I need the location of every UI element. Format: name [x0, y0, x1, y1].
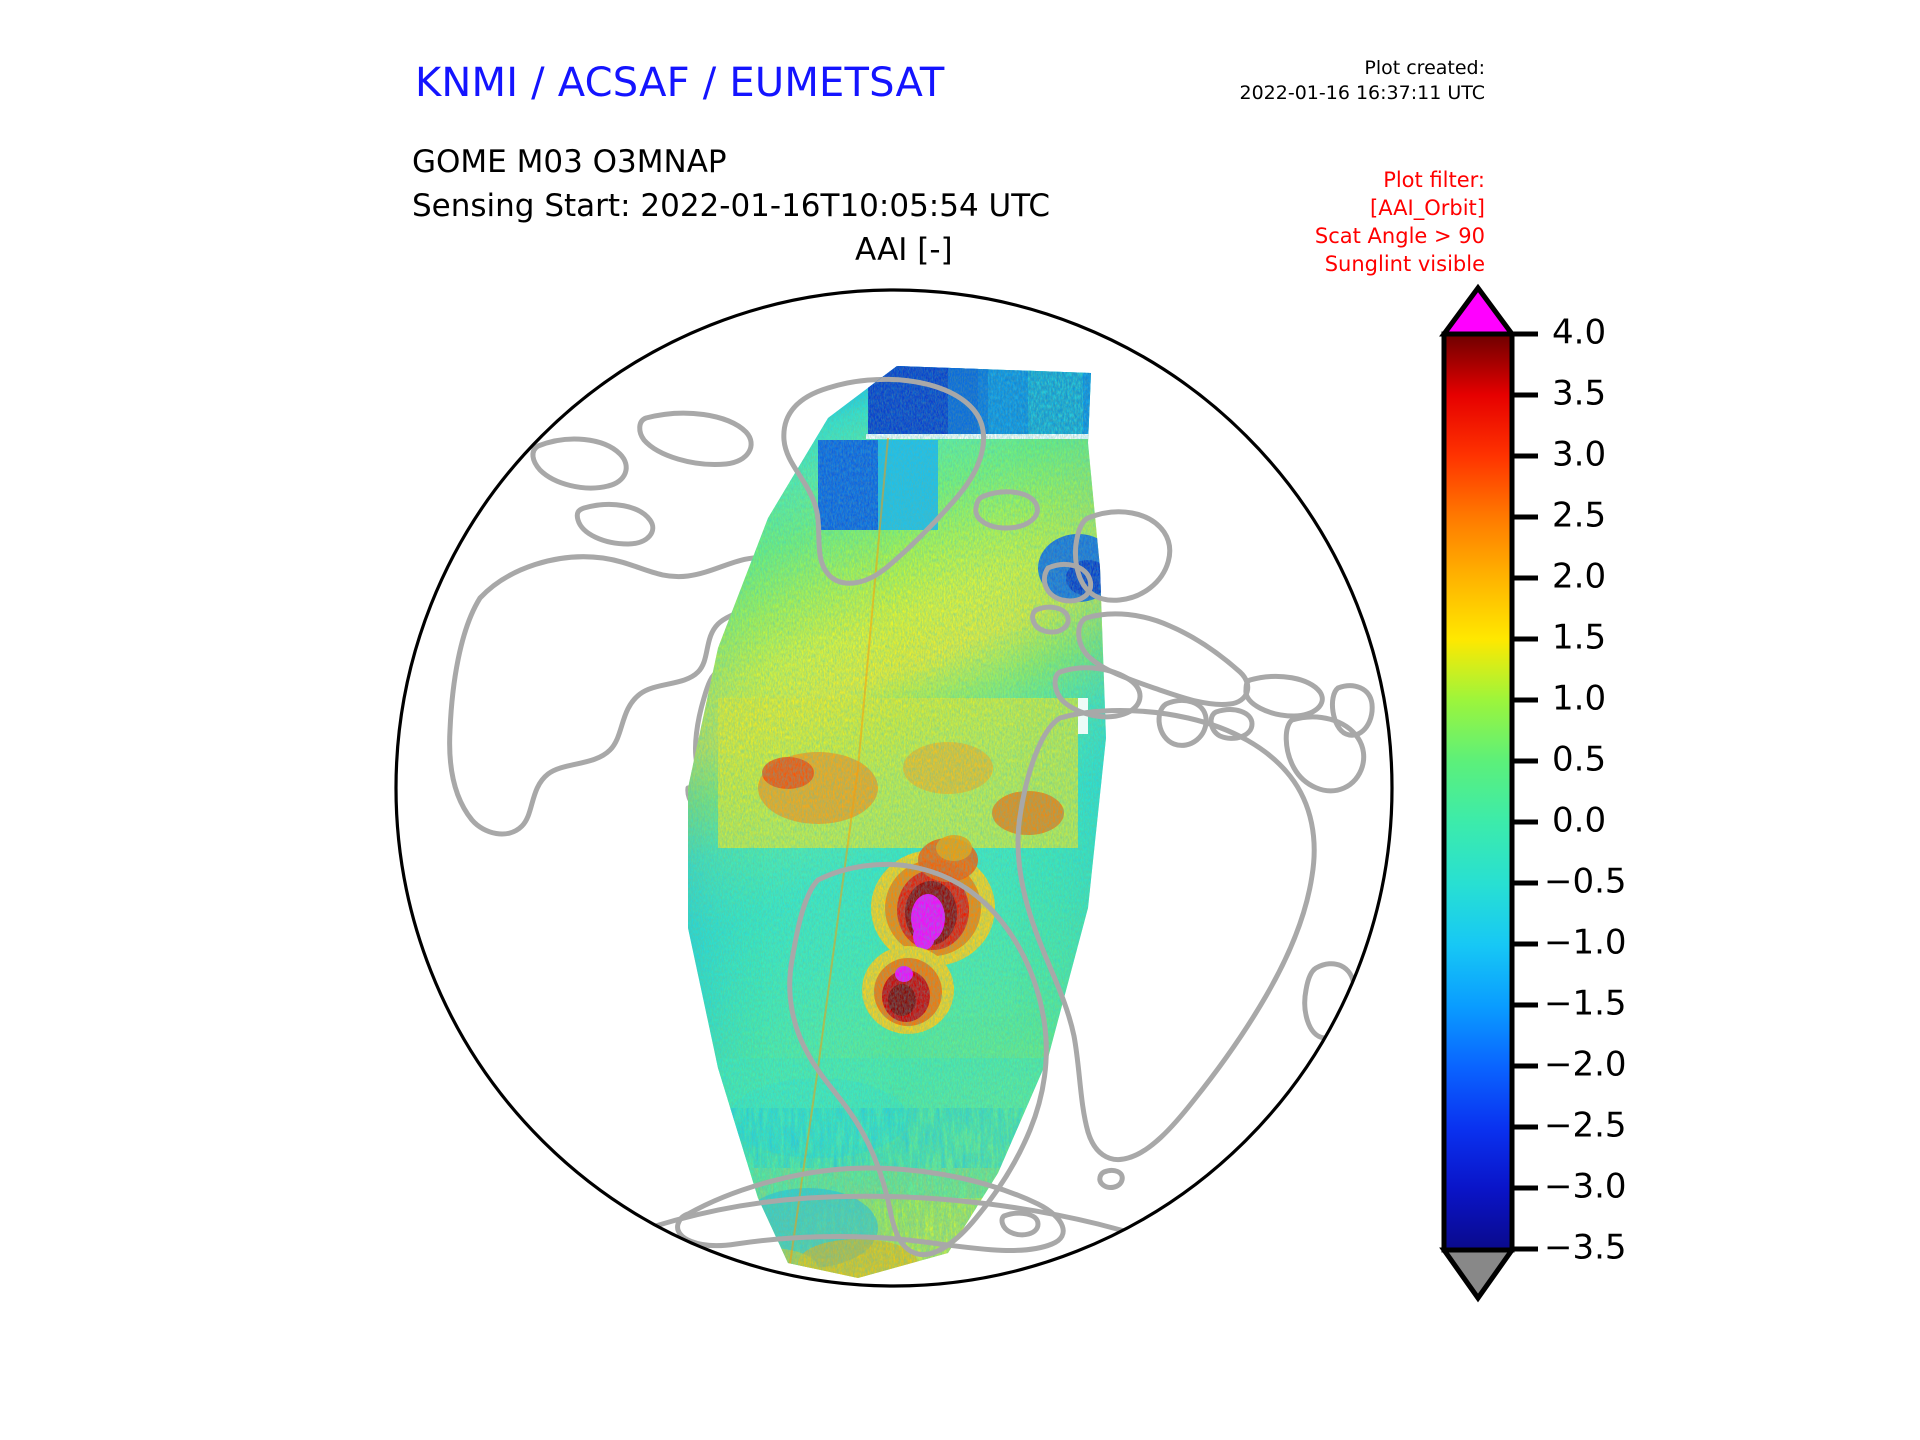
colorbar-tick-label: 1.0: [1552, 679, 1606, 719]
sensing-start: Sensing Start: 2022-01-16T10:05:54 UTC: [412, 184, 1050, 228]
plot-filter-line-1: [AAI_Orbit]: [1160, 194, 1485, 222]
colorbar-tick-label: −0.5: [1544, 862, 1627, 902]
colorbar-gradient: [1444, 334, 1512, 1250]
organisation-title: KNMI / ACSAF / EUMETSAT: [415, 60, 945, 106]
colorbar-tick-label: 3.0: [1552, 435, 1606, 475]
colorbar-tick-label: 0.5: [1552, 740, 1606, 780]
plot-created-block: Plot created: 2022-01-16 16:37:11 UTC: [1155, 56, 1485, 106]
colorbar-tick-label: 0.0: [1552, 801, 1606, 841]
plot-filter-title: Plot filter:: [1160, 166, 1485, 194]
map-panel[interactable]: [388, 268, 1400, 1296]
colorbar-tick-label: −3.0: [1544, 1167, 1627, 1207]
colorbar-tick-label: 2.0: [1552, 557, 1606, 597]
colorbar-over-arrow: [1444, 288, 1512, 334]
product-info-block: GOME M03 O3MNAP Sensing Start: 2022-01-1…: [412, 140, 1050, 228]
plot-filter-block: Plot filter: [AAI_Orbit] Scat Angle > 90…: [1160, 166, 1485, 278]
colorbar-tick-label: −2.5: [1544, 1106, 1627, 1146]
colorbar-tick-label: 1.5: [1552, 618, 1606, 658]
colorbar-panel[interactable]: 4.0 3.5 3.0 2.5 2.0 1.5 1.0 0.5 0.0 −0.5…: [1432, 282, 1762, 1312]
colorbar-tick-label: 3.5: [1552, 374, 1606, 414]
colorbar-ticks: [1512, 334, 1538, 1249]
page-title: AAI [-]: [855, 232, 953, 268]
plot-filter-line-2: Scat Angle > 90: [1160, 222, 1485, 250]
colorbar-tick-label: −3.5: [1544, 1228, 1627, 1268]
colorbar[interactable]: 4.0 3.5 3.0 2.5 2.0 1.5 1.0 0.5 0.0 −0.5…: [1432, 282, 1762, 1312]
plot-created-value: 2022-01-16 16:37:11 UTC: [1155, 81, 1485, 106]
product-name: GOME M03 O3MNAP: [412, 140, 1050, 184]
colorbar-tick-labels: 4.0 3.5 3.0 2.5 2.0 1.5 1.0 0.5 0.0 −0.5…: [1544, 313, 1627, 1268]
colorbar-under-arrow: [1444, 1250, 1512, 1298]
colorbar-tick-label: −1.5: [1544, 984, 1627, 1024]
orthographic-globe[interactable]: [388, 268, 1400, 1296]
colorbar-tick-label: −1.0: [1544, 923, 1627, 963]
colorbar-tick-label: 4.0: [1552, 313, 1606, 353]
colorbar-tick-label: 2.5: [1552, 496, 1606, 536]
plot-created-label: Plot created:: [1155, 56, 1485, 81]
colorbar-tick-label: −2.0: [1544, 1045, 1627, 1085]
